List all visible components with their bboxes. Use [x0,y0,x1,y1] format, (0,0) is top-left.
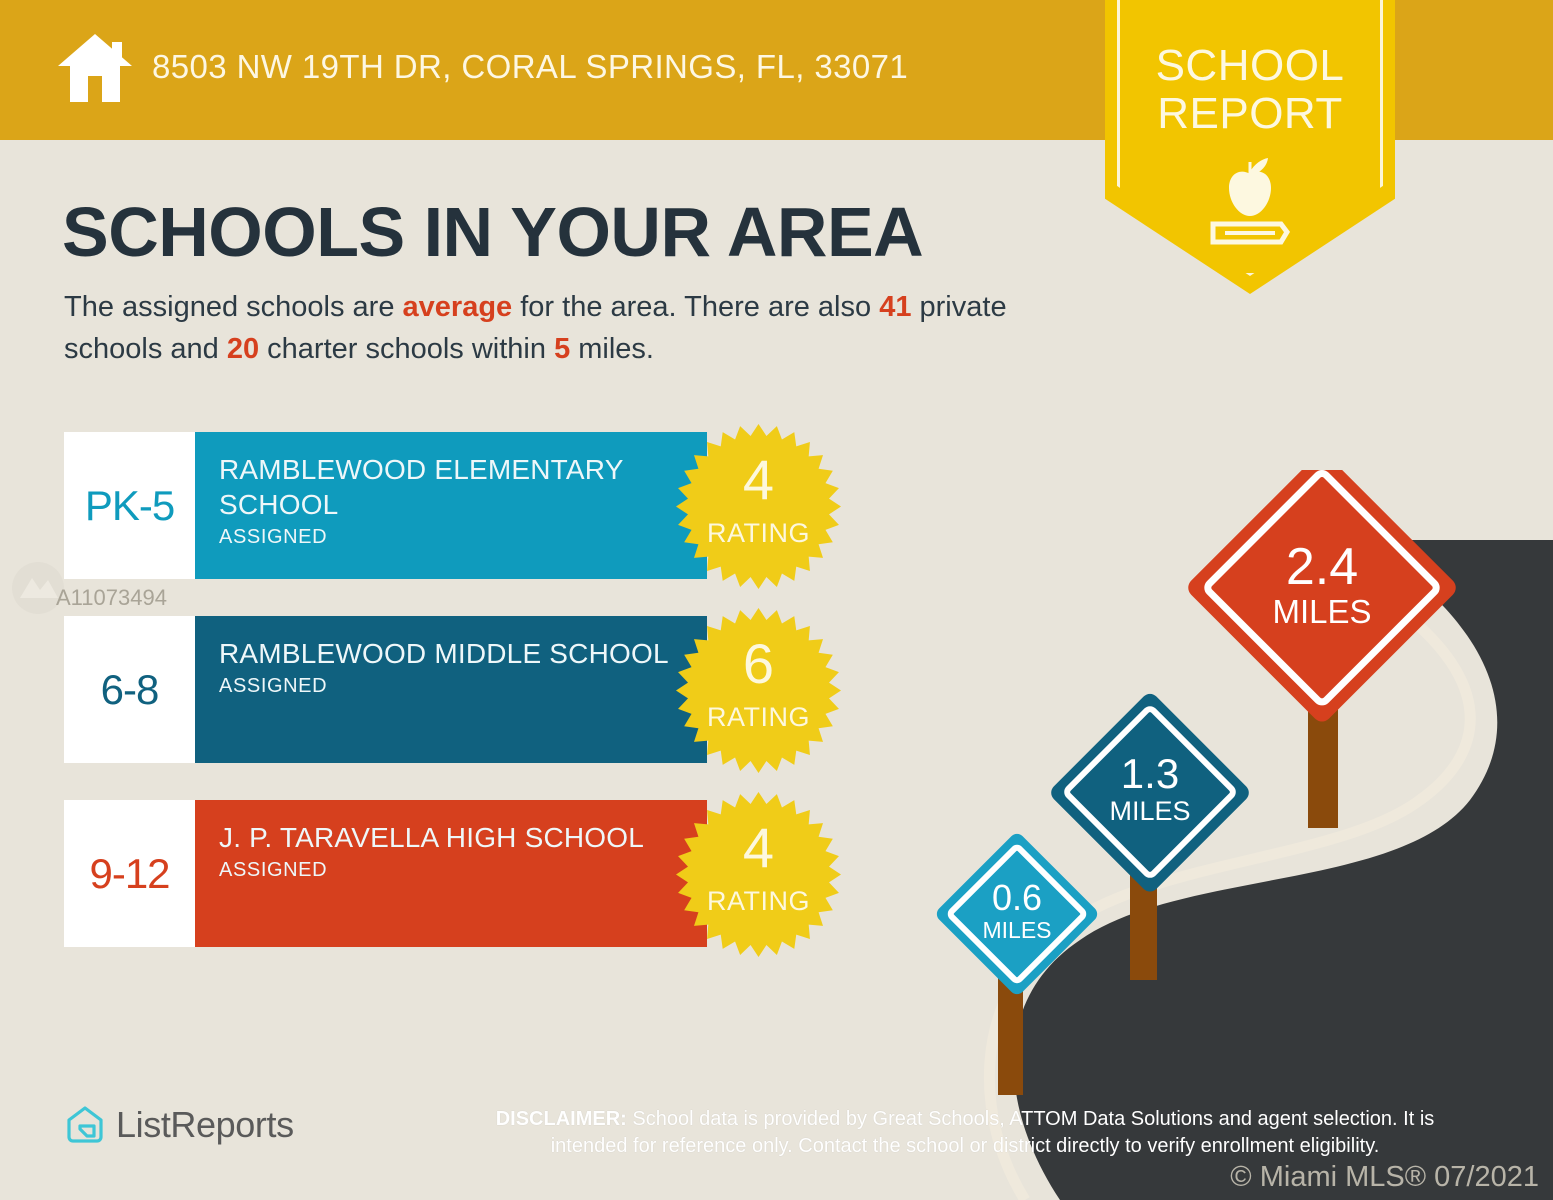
sign-unit: MILES [1109,796,1190,826]
disclaimer: DISCLAIMER: School data is provided by G… [460,1106,1470,1160]
page-subtitle: The assigned schools are average for the… [64,286,1104,370]
school-status: ASSIGNED [219,526,691,549]
subtitle-highlight-private-count: 41 [879,291,911,323]
rating-value: 4 [676,452,841,508]
subtitle-highlight-charter-count: 20 [227,333,259,365]
school-row[interactable]: 9-12 J. P. TARAVELLA HIGH SCHOOL ASSIGNE… [64,800,707,947]
grade-range-label: PK-5 [85,482,174,530]
grade-range-label: 9-12 [89,850,169,898]
mls-copyright-watermark: © Miami MLS® 07/2021 [1230,1161,1539,1194]
disclaimer-label: DISCLAIMER: [496,1108,627,1130]
brand-name: ListReports [116,1104,294,1146]
badge-title: SCHOOL REPORT [1105,42,1395,138]
school-report-infographic: 8503 NW 19TH DR, CORAL SPRINGS, FL, 3307… [0,0,1553,1200]
listreports-brand[interactable]: ListReports [64,1104,294,1146]
rating-label: RATING [676,518,841,549]
subtitle-part-2: for the area. There are also [512,291,879,323]
home-icon [56,32,134,104]
subtitle-highlight-average: average [403,291,513,323]
grade-range-box: 9-12 [64,800,195,947]
apple-on-book-icon [1105,150,1395,260]
rating-label: RATING [676,702,841,733]
distance-road-illustration: 2.4 MILES 1.3 MILES 0.6 MILES [930,470,1553,1200]
mls-listing-id: A11073494 [56,585,167,611]
school-status: ASSIGNED [219,675,691,698]
school-row[interactable]: PK-5 RAMBLEWOOD ELEMENTARY SCHOOL ASSIGN… [64,432,707,579]
sign-unit: MILES [982,917,1051,943]
subtitle-part-1: The assigned schools are [64,291,403,323]
grade-range-box: 6-8 [64,616,195,763]
rating-value: 4 [676,820,841,876]
school-name-bar: J. P. TARAVELLA HIGH SCHOOL ASSIGNED [195,800,707,947]
sign-unit: MILES [1272,593,1371,630]
subtitle-part-5: miles. [570,333,654,365]
subtitle-part-4: charter schools within [259,333,554,365]
rating-label: RATING [676,886,841,917]
school-name: RAMBLEWOOD MIDDLE SCHOOL [219,636,691,671]
school-name: RAMBLEWOOD ELEMENTARY SCHOOL [219,452,691,522]
grade-range-label: 6-8 [101,666,159,714]
badge-title-line2: REPORT [1105,90,1395,138]
subtitle-highlight-radius: 5 [554,333,570,365]
sign-value: 1.3 [1121,750,1179,797]
badge-title-line1: SCHOOL [1105,42,1395,90]
sign-value: 0.6 [992,877,1042,918]
listreports-house-tag-icon [64,1104,106,1146]
school-name-bar: RAMBLEWOOD MIDDLE SCHOOL ASSIGNED [195,616,707,763]
rating-value: 6 [676,636,841,692]
grade-range-box: PK-5 [64,432,195,579]
disclaimer-text: School data is provided by Great Schools… [551,1108,1435,1157]
school-row[interactable]: 6-8 RAMBLEWOOD MIDDLE SCHOOL ASSIGNED 6 … [64,616,707,763]
property-address: 8503 NW 19TH DR, CORAL SPRINGS, FL, 3307… [152,48,908,86]
school-name-bar: RAMBLEWOOD ELEMENTARY SCHOOL ASSIGNED [195,432,707,579]
school-status: ASSIGNED [219,859,691,882]
page-title: SCHOOLS IN YOUR AREA [62,192,923,272]
sign-value: 2.4 [1286,538,1358,596]
school-name: J. P. TARAVELLA HIGH SCHOOL [219,820,691,855]
